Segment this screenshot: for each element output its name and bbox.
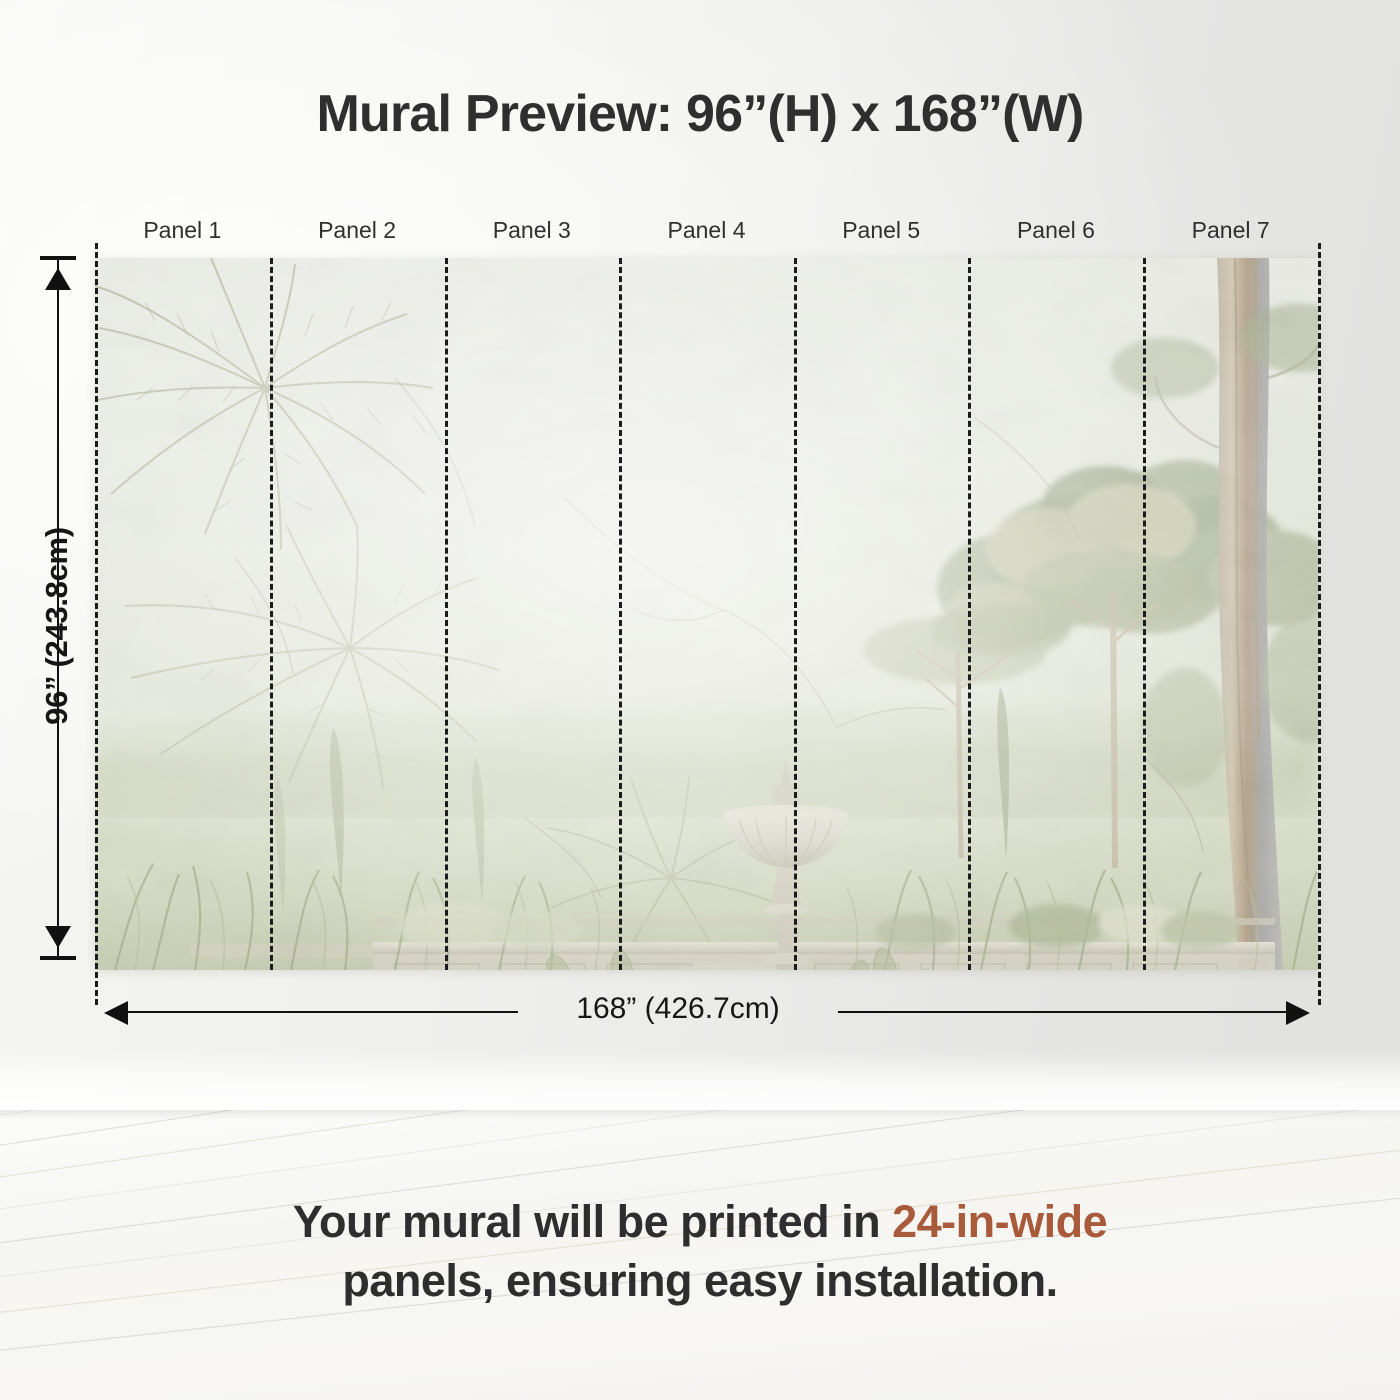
dimension-arrow-down — [45, 926, 71, 948]
caption-prefix: Your mural will be printed in — [293, 1196, 892, 1247]
panel-divider-edge-left — [95, 243, 98, 1005]
dimension-label-height: 96” (243.8cm) — [39, 476, 75, 776]
panel-label-2: Panel 2 — [270, 213, 445, 247]
panel-label-4: Panel 4 — [619, 213, 794, 247]
panel-divider-edge-right — [1318, 243, 1321, 1005]
panel-label-1: Panel 1 — [95, 213, 270, 247]
dimension-arrow-left — [104, 1001, 128, 1025]
page-title: Mural Preview: 96”(H) x 168”(W) — [0, 84, 1400, 144]
caption-text: Your mural will be printed in 24-in-wide… — [0, 1192, 1400, 1311]
panel-divider-6 — [1143, 258, 1146, 970]
mural-artwork — [95, 258, 1318, 970]
caption-line-2: panels, ensuring easy installation. — [0, 1251, 1400, 1310]
dimension-cap-bottom — [40, 956, 76, 960]
panel-divider-5 — [968, 258, 971, 970]
wall-base-shadow — [0, 1050, 1400, 1110]
mural-preview-image — [95, 258, 1318, 970]
caption-highlight: 24-in-wide — [892, 1196, 1107, 1247]
panel-label-row: Panel 1 Panel 2 Panel 3 Panel 4 Panel 5 … — [95, 213, 1318, 247]
panel-divider-3 — [619, 258, 622, 970]
panel-divider-4 — [794, 258, 797, 970]
panel-label-3: Panel 3 — [444, 213, 619, 247]
dimension-line-horizontal-right — [838, 1011, 1286, 1013]
caption-line-1: Your mural will be printed in 24-in-wide — [0, 1192, 1400, 1251]
panel-label-6: Panel 6 — [969, 213, 1144, 247]
panel-label-7: Panel 7 — [1143, 213, 1318, 247]
dimension-arrow-right — [1286, 1001, 1310, 1025]
dimension-line-horizontal-left — [128, 1011, 518, 1013]
panel-divider-1 — [270, 258, 273, 970]
panel-label-5: Panel 5 — [794, 213, 969, 247]
panel-divider-2 — [445, 258, 448, 970]
dimension-label-width: 168” (426.7cm) — [518, 992, 838, 1026]
